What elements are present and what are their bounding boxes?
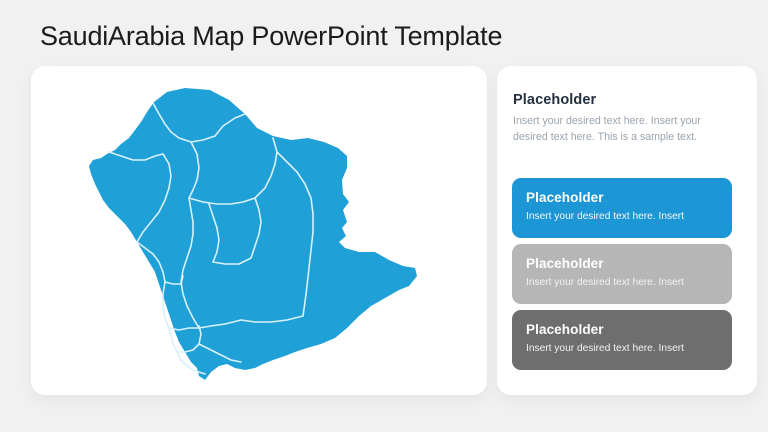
card-subtitle: Insert your desired text here. Insert: [526, 210, 718, 224]
list-item[interactable]: Placeholder Insert your desired text her…: [512, 244, 732, 304]
country-outline: [89, 88, 417, 380]
map-panel: [31, 66, 487, 395]
card-subtitle: Insert your desired text here. Insert: [526, 276, 718, 290]
card-subtitle: Insert your desired text here. Insert: [526, 342, 718, 356]
saudi-arabia-map-svg[interactable]: [59, 76, 459, 391]
card-title: Placeholder: [526, 321, 718, 339]
saudi-arabia-map[interactable]: [59, 76, 459, 391]
card-list: Placeholder Insert your desired text her…: [512, 178, 732, 376]
card-title: Placeholder: [526, 255, 718, 273]
list-item[interactable]: Placeholder Insert your desired text her…: [512, 178, 732, 238]
info-panel: Placeholder Insert your desired text her…: [497, 66, 757, 395]
card-title: Placeholder: [526, 189, 718, 207]
info-heading: Placeholder: [513, 92, 596, 108]
list-item[interactable]: Placeholder Insert your desired text her…: [512, 310, 732, 370]
page-title: SaudiArabia Map PowerPoint Template: [40, 19, 502, 53]
info-body-text: Insert your desired text here. Insert yo…: [513, 113, 731, 145]
map-regions-group: [89, 88, 417, 380]
